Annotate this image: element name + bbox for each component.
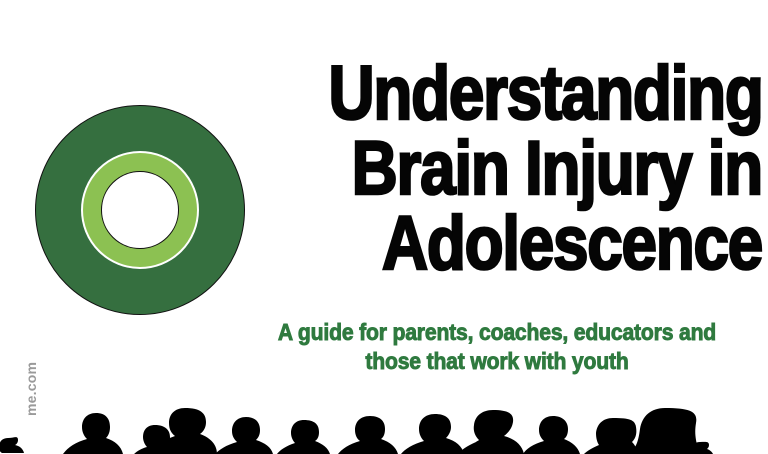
- concentric-circles-logo: [35, 105, 245, 315]
- subtitle-line-1: A guide for parents, coaches, educators …: [266, 318, 728, 347]
- crowd-silhouette-band: [0, 394, 768, 454]
- logo-core-circle: [101, 171, 179, 249]
- silhouette-figures: [0, 408, 713, 454]
- title-line-3: Adolescence: [329, 206, 762, 281]
- poster-subtitle: A guide for parents, coaches, educators …: [246, 318, 748, 377]
- title-line-1: Understanding: [329, 56, 762, 131]
- title-line-2: Brain Injury in: [329, 131, 762, 206]
- poster-title: Understanding Brain Injury in Adolescenc…: [246, 56, 762, 282]
- poster-root: Understanding Brain Injury in Adolescenc…: [0, 0, 768, 454]
- subtitle-line-2: those that work with youth: [266, 347, 728, 376]
